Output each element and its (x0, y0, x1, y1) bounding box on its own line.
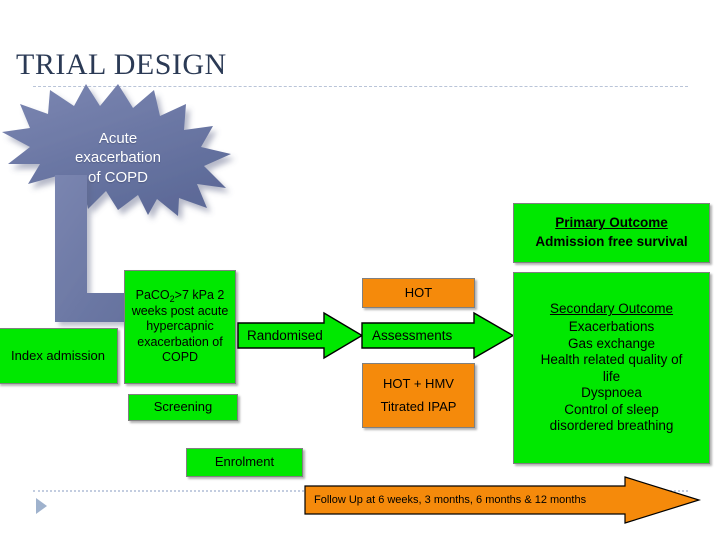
secondary-outcome-item: Control of sleep (564, 402, 659, 418)
secondary-outcome-item: Exacerbations (569, 319, 655, 335)
starburst-line-2: exacerbation (75, 148, 161, 167)
box-hot-hmv[interactable]: HOT + HMV Titrated IPAP (362, 363, 475, 428)
hot-hmv-line-1: HOT + HMV (383, 376, 454, 392)
box-index-admission[interactable]: Index admission (0, 328, 118, 384)
arrow-randomised-label: Randomised (238, 313, 357, 358)
box-hot[interactable]: HOT (362, 278, 475, 308)
primary-outcome-text: Admission free survival (535, 234, 687, 251)
secondary-outcome-item: Health related quality of (541, 352, 683, 368)
arrow-assessments[interactable]: Assessments (362, 313, 514, 358)
arrow-follow-up-label: Follow Up at 6 weeks, 3 months, 6 months… (305, 476, 605, 524)
secondary-outcome-item: Gas exchange (568, 336, 655, 352)
paco2-suffix: >7 kPa (175, 288, 214, 302)
secondary-outcome-item: disordered breathing (550, 418, 674, 434)
slide-canvas: TRIAL DESIGN Acute exacerbation of COPD (0, 0, 714, 535)
arrow-follow-up[interactable]: Follow Up at 6 weeks, 3 months, 6 months… (305, 476, 700, 524)
arrow-randomised[interactable]: Randomised (238, 313, 363, 358)
paco2-prefix: PaCO (136, 288, 170, 302)
page-title: TRIAL DESIGN (16, 48, 227, 82)
box-secondary-outcome[interactable]: Secondary Outcome Exacerbations Gas exch… (513, 272, 710, 464)
paco2-subscript: 2 (170, 294, 175, 304)
arrow-assessments-label: Assessments (362, 313, 502, 358)
triangle-bullet-icon (35, 497, 49, 515)
starburst-line-1: Acute (99, 129, 137, 148)
secondary-outcome-item: Dyspnoea (581, 385, 642, 401)
box-screening[interactable]: Screening (128, 394, 238, 421)
box-paco2-criteria[interactable]: PaCO2>7 kPa 2 weeks post acute hypercapn… (124, 270, 236, 384)
box-primary-outcome[interactable]: Primary Outcome Admission free survival (513, 203, 710, 263)
secondary-outcome-item: life (603, 369, 620, 385)
secondary-outcome-heading: Secondary Outcome (550, 301, 673, 318)
primary-outcome-heading: Primary Outcome (555, 215, 668, 232)
hot-hmv-line-2: Titrated IPAP (381, 399, 457, 415)
box-enrolment[interactable]: Enrolment (186, 448, 303, 477)
